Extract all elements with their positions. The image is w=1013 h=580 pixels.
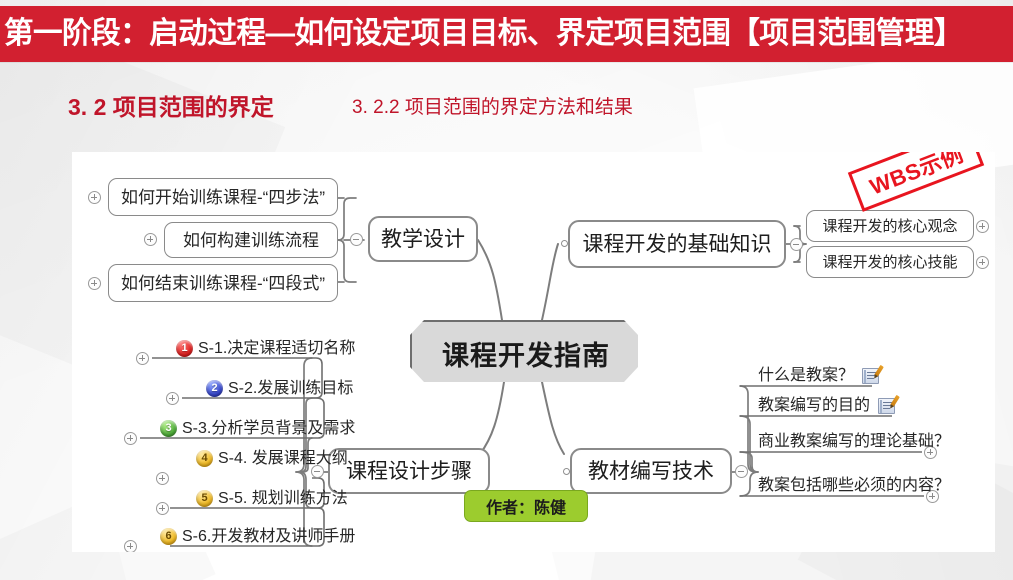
branch-label: 教材编写技术 [588, 461, 714, 482]
child-label: 如何结束训练课程-“四段式” [121, 275, 325, 292]
slide-canvas: 第一阶段：启动过程—如何设定项目目标、界定项目范围【项目范围管理】 3. 2 项… [0, 0, 1013, 580]
expand-toggle-step-5[interactable] [156, 502, 169, 515]
expand-toggle-training-end[interactable] [88, 277, 101, 290]
step-label-2: S-2.发展训练目标 [228, 381, 353, 397]
step-badge-5: 5 [196, 490, 213, 507]
child-node-training-end[interactable]: 如何结束训练课程-“四段式” [108, 264, 338, 302]
child-node-training-start[interactable]: 如何开始训练课程-“四步法” [108, 178, 338, 216]
branch-label: 课程设计步骤 [346, 461, 472, 482]
child-label: 如何构建训练流程 [183, 232, 319, 249]
collapse-toggle-teaching-design[interactable] [350, 233, 363, 246]
branch-node-course-basics[interactable]: 课程开发的基础知识 [568, 220, 786, 268]
collapse-toggle-material-writing[interactable] [735, 465, 748, 478]
material-item-3[interactable]: 商业教案编写的理论基础？ [758, 434, 950, 450]
material-label-3: 商业教案编写的理论基础？ [758, 434, 950, 450]
connector-dot-course-basics [561, 240, 568, 247]
expand-toggle-core-concepts[interactable] [976, 220, 989, 233]
step-item-1[interactable]: 1 S-1.决定课程适切名称 [176, 340, 355, 357]
collapse-toggle-course-basics[interactable] [790, 238, 803, 251]
step-item-5[interactable]: 5 S-5. 规划训练方法 [196, 490, 348, 507]
step-item-6[interactable]: 6 S-6.开发教材及讲师手册 [160, 528, 355, 545]
header-band: 第一阶段：启动过程—如何设定项目目标、界定项目范围【项目范围管理】 [0, 6, 1013, 62]
connector-dot-material-writing [563, 468, 570, 475]
note-icon [878, 398, 895, 414]
step-badge-4: 4 [196, 450, 213, 467]
section-subheading: 3. 2.2 项目范围的界定方法和结果 [352, 92, 633, 119]
child-node-training-flow[interactable]: 如何构建训练流程 [164, 222, 338, 258]
mindmap-root-node[interactable]: 课程开发指南 [410, 320, 642, 386]
expand-toggle-core-skills[interactable] [976, 256, 989, 269]
expand-toggle-step-1[interactable] [136, 352, 149, 365]
expand-toggle-step-4[interactable] [156, 472, 169, 485]
page-title: 第一阶段：启动过程—如何设定项目目标、界定项目范围【项目范围管理】 [0, 19, 963, 49]
material-label-4: 教案包括哪些必须的内容？ [758, 478, 950, 494]
expand-toggle-step-6[interactable] [124, 540, 137, 552]
material-item-1[interactable]: 什么是教案？ [758, 368, 879, 384]
material-item-4[interactable]: 教案包括哪些必须的内容？ [758, 478, 950, 494]
branch-label: 教学设计 [381, 229, 465, 250]
expand-toggle-training-start[interactable] [88, 191, 101, 204]
material-item-2[interactable]: 教案编写的目的 [758, 398, 895, 414]
expand-toggle-step-2[interactable] [166, 392, 179, 405]
branch-label: 课程开发的基础知识 [583, 234, 772, 255]
branch-node-design-steps[interactable]: 课程设计步骤 [328, 448, 490, 494]
branch-node-material-writing[interactable]: 教材编写技术 [570, 448, 732, 494]
child-label: 课程开发的核心技能 [822, 255, 957, 270]
author-node[interactable]: 作者：陈健 [464, 490, 588, 522]
section-heading: 3. 2 项目范围的界定 [68, 88, 274, 122]
step-badge-6: 6 [160, 528, 177, 545]
step-badge-1: 1 [176, 340, 193, 357]
step-label-3: S-3.分析学员背景及需求 [182, 421, 355, 437]
step-item-2[interactable]: 2 S-2.发展训练目标 [206, 380, 353, 397]
mindmap-panel: 课程开发指南 教学设计 如何开始训练课程-“四步法” 如何构建训练流程 如何结束… [72, 152, 995, 552]
step-item-4[interactable]: 4 S-4. 发展课程大纲 [196, 450, 348, 467]
step-label-5: S-5. 规划训练方法 [218, 491, 348, 507]
child-label: 课程开发的核心观念 [822, 219, 957, 234]
child-node-core-concepts[interactable]: 课程开发的核心观念 [806, 210, 974, 242]
note-icon [862, 368, 879, 384]
step-label-6: S-6.开发教材及讲师手册 [182, 529, 355, 545]
material-label-1: 什么是教案？ [758, 368, 854, 384]
step-label-4: S-4. 发展课程大纲 [218, 451, 348, 467]
step-badge-3: 3 [160, 420, 177, 437]
step-item-3[interactable]: 3 S-3.分析学员背景及需求 [160, 420, 355, 437]
material-label-2: 教案编写的目的 [758, 398, 870, 414]
step-badge-2: 2 [206, 380, 223, 397]
child-node-core-skills[interactable]: 课程开发的核心技能 [806, 246, 974, 278]
expand-toggle-training-flow[interactable] [144, 233, 157, 246]
branch-node-teaching-design[interactable]: 教学设计 [368, 216, 478, 262]
expand-toggle-step-3[interactable] [124, 432, 137, 445]
child-label: 如何开始训练课程-“四步法” [121, 189, 325, 206]
step-label-1: S-1.决定课程适切名称 [198, 341, 355, 357]
